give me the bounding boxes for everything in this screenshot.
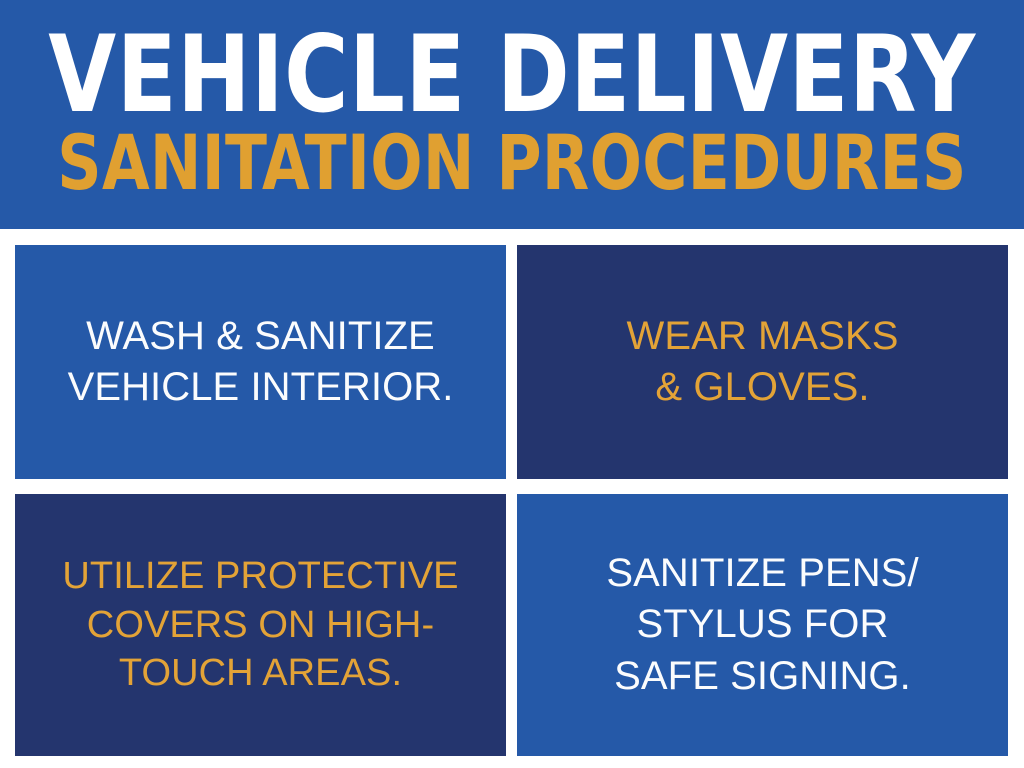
procedure-card-text: UTILIZE PROTECTIVE COVERS ON HIGH- TOUCH… — [62, 552, 458, 698]
procedure-card-text: SANITIZE PENS/ STYLUS FOR SAFE SIGNING. — [606, 548, 918, 702]
procedure-card-grid: WASH & SANITIZE VEHICLE INTERIOR. WEAR M… — [15, 245, 1008, 756]
poster-root: VEHICLE DELIVERY SANITATION PROCEDURES W… — [0, 0, 1024, 768]
header-banner: VEHICLE DELIVERY SANITATION PROCEDURES — [0, 0, 1024, 229]
header-title-line-2: SANITATION PROCEDURES — [51, 125, 973, 201]
procedure-card-sanitize-pens-stylus: SANITIZE PENS/ STYLUS FOR SAFE SIGNING. — [517, 494, 1008, 756]
header-title-line-1: VEHICLE DELIVERY — [41, 22, 983, 128]
procedure-card-text: WEAR MASKS & GLOVES. — [627, 311, 899, 413]
procedure-card-wash-sanitize-interior: WASH & SANITIZE VEHICLE INTERIOR. — [15, 245, 506, 479]
procedure-card-protective-covers: UTILIZE PROTECTIVE COVERS ON HIGH- TOUCH… — [15, 494, 506, 756]
procedure-card-wear-masks-gloves: WEAR MASKS & GLOVES. — [517, 245, 1008, 479]
procedure-card-text: WASH & SANITIZE VEHICLE INTERIOR. — [68, 311, 454, 413]
